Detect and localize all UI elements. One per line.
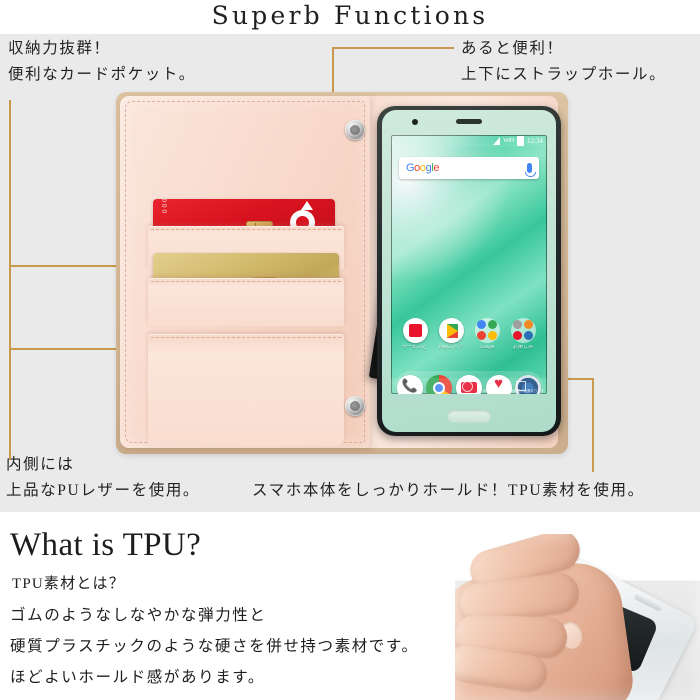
home-icon[interactable] bbox=[462, 381, 473, 392]
case-side-button bbox=[634, 593, 663, 612]
annotation-strap-hole: あると便利！ 上下にストラップホール。 bbox=[461, 36, 666, 88]
app-label: Playストア bbox=[438, 345, 464, 351]
annotation-strap-hole-line2: 上下にストラップホール。 bbox=[461, 62, 666, 88]
strap-hole-eyelet-bottom bbox=[345, 396, 365, 416]
tpu-body-line: 硬質プラスチックのような硬さを併せ持つ素材です。 bbox=[10, 631, 419, 662]
strap-hole-eyelet-top bbox=[345, 120, 365, 140]
app-folder-google[interactable]: Google bbox=[474, 318, 500, 351]
app-label: サービスとアプリ bbox=[402, 345, 428, 351]
phone-body: WiFi 12:34 Google サービスとアプリ bbox=[382, 110, 556, 432]
google-logo: Google bbox=[406, 162, 439, 174]
screen-watermark: 利用の端末により画面表示は異なります bbox=[483, 388, 544, 393]
status-time: 12:34 bbox=[527, 137, 543, 145]
annotation-tpu-hold: スマホ本体をしっかりホールド！TPU素材を使用。 bbox=[252, 478, 645, 504]
back-icon[interactable] bbox=[412, 381, 419, 391]
google-search-bar[interactable]: Google bbox=[399, 157, 539, 179]
microphone-icon[interactable] bbox=[527, 163, 532, 173]
app-label: お楽しみ bbox=[510, 345, 536, 351]
tpu-body-line: ほどよいホールド感があります。 bbox=[10, 662, 419, 693]
app-folder-media[interactable]: お楽しみ bbox=[510, 318, 536, 351]
leader-line-strap-hole-horizontal bbox=[332, 47, 454, 49]
tpu-flex-photo bbox=[455, 534, 700, 700]
tpu-body-line: ゴムのようなしなやかな弾力性と bbox=[10, 600, 419, 631]
app-row: サービスとアプリ Playストア bbox=[397, 318, 541, 351]
leader-line-tpu-hold-vertical bbox=[592, 378, 594, 472]
tpu-heading: What is TPU? bbox=[10, 527, 201, 564]
annotation-pu-leather-line2: 上品なPUレザーを使用。 bbox=[6, 478, 200, 504]
page-title: Superb Functions bbox=[0, 1, 700, 30]
earpiece-speaker bbox=[456, 119, 482, 124]
app-icon-play-store[interactable]: Playストア bbox=[438, 318, 464, 351]
card-pocket-3 bbox=[148, 334, 344, 446]
card-pocket-2 bbox=[148, 278, 344, 326]
smartphone: WiFi 12:34 Google サービスとアプリ bbox=[377, 106, 561, 436]
case-left-flap: 0000 bbox=[120, 96, 370, 448]
phone-screen: WiFi 12:34 Google サービスとアプリ bbox=[391, 135, 547, 394]
card-arrow-icon bbox=[301, 201, 313, 210]
app-label: Google bbox=[474, 345, 500, 351]
status-bar: WiFi 12:34 bbox=[391, 135, 547, 147]
annotation-strap-hole-line1: あると便利！ bbox=[461, 36, 666, 62]
wifi-icon: WiFi bbox=[503, 138, 514, 144]
google-folder-icon bbox=[475, 318, 500, 343]
docomo-icon bbox=[403, 318, 428, 343]
leader-line-pu-leather-vertical bbox=[9, 348, 11, 460]
annotation-card-pocket: 収納力抜群！ 便利なカードポケット。 bbox=[8, 36, 196, 88]
annotation-card-pocket-line2: 便利なカードポケット。 bbox=[8, 62, 196, 88]
app-icon-docomo[interactable]: サービスとアプリ bbox=[402, 318, 428, 351]
battery-icon bbox=[517, 136, 524, 146]
signal-icon bbox=[493, 137, 500, 145]
leader-line-card-pocket-vertical bbox=[9, 100, 11, 350]
home-button[interactable] bbox=[447, 410, 491, 423]
tpu-subheading: TPU素材とは？ bbox=[12, 572, 125, 593]
annotation-card-pocket-line1: 収納力抜群！ bbox=[8, 36, 196, 62]
play-store-icon bbox=[439, 318, 464, 343]
product-infographic: Superb Functions 収納力抜群！ 便利なカードポケット。 あると便… bbox=[0, 0, 700, 700]
tpu-body: ゴムのようなしなやかな弾力性と 硬質プラスチックのような硬さを併せ持つ素材です。… bbox=[10, 600, 419, 693]
annotation-tpu-hold-line1: スマホ本体をしっかりホールド！TPU素材を使用。 bbox=[252, 478, 645, 504]
product-photo: 0000 Business Card MITSUI 三井住友カード bbox=[100, 88, 580, 464]
card-red-number: 0000 bbox=[161, 199, 169, 213]
media-folder-icon bbox=[511, 318, 536, 343]
front-camera-icon bbox=[412, 119, 418, 125]
